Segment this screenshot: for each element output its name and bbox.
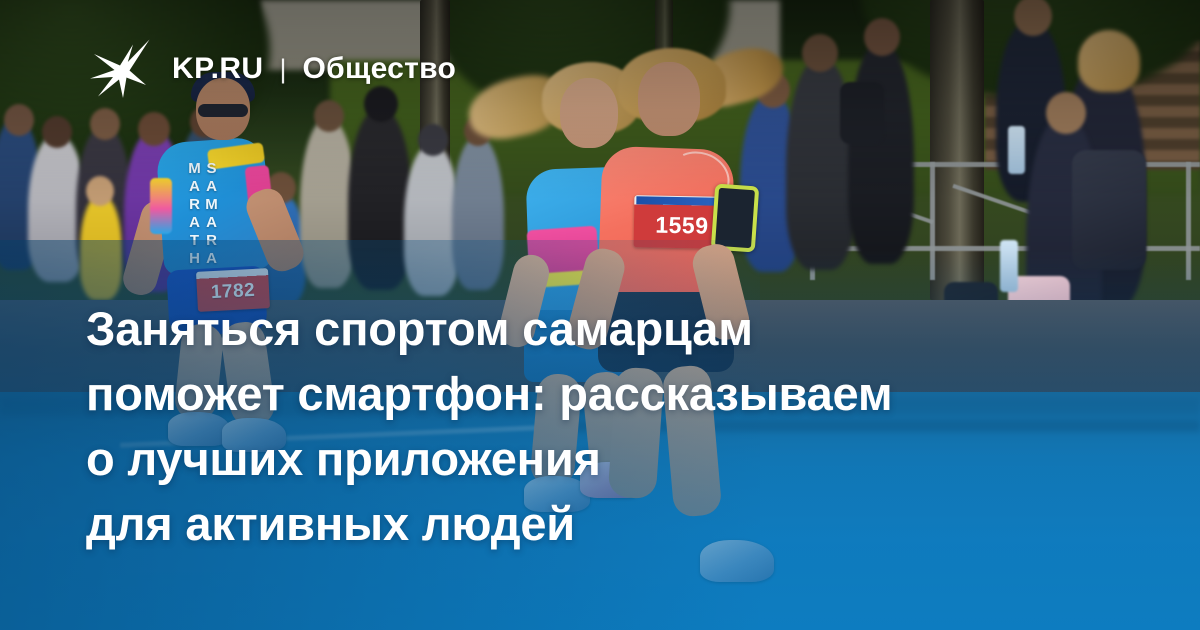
headline-line-2: поможет смартфон: рассказываем [86, 361, 1096, 426]
rubric-label[interactable]: Общество [303, 52, 457, 86]
headline-line-1: Заняться спортом самарцам [86, 296, 1096, 361]
brand-header: KP.RU | Общество [86, 38, 456, 100]
headline-line-3: о лучших приложения [86, 426, 1096, 491]
headline-line-4: для активных людей [86, 491, 1096, 556]
brand-separator: | [279, 54, 286, 85]
bib-number: 1559 [648, 211, 716, 239]
article-share-card: SAMARA MARATHON 1782 [0, 0, 1200, 630]
brand-name[interactable]: KP.RU [172, 52, 263, 86]
top-vignette [0, 0, 1200, 200]
article-headline: Заняться спортом самарцам поможет смартф… [86, 296, 1096, 556]
kp-swallow-logo-icon[interactable] [86, 38, 158, 100]
